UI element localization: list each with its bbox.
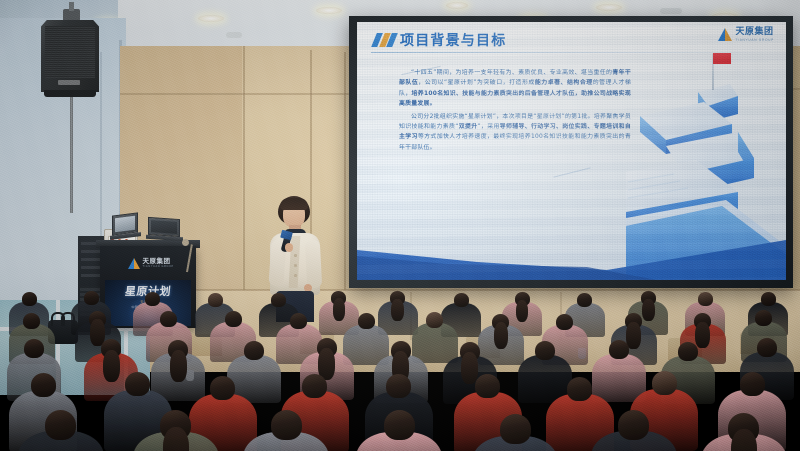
dado-trim-line bbox=[120, 289, 800, 291]
audience-member-head bbox=[302, 374, 327, 398]
slide-text-run: ，公司以“星原计划”为突破口，打造形成 bbox=[418, 80, 535, 86]
audience-member-head bbox=[500, 414, 531, 444]
audience-member-head bbox=[757, 338, 777, 357]
presenter-hair-fringe bbox=[280, 198, 308, 210]
audience-member-head bbox=[31, 373, 56, 397]
audience-member-head bbox=[384, 410, 415, 440]
audience-member-head bbox=[556, 314, 573, 330]
rack-slot bbox=[81, 274, 101, 277]
slide-text-run: “十四五”期间，为培养一支年轻有为、素质优良、专业高效、堪当重任的 bbox=[411, 70, 612, 76]
summit-flag bbox=[713, 53, 731, 64]
rack-slot bbox=[81, 250, 101, 253]
audience-member-head bbox=[225, 311, 242, 327]
wall-seam bbox=[120, 93, 350, 95]
slide-body-text: “十四五”期间，为培养一支年轻有为、素质优良、专业高效、堪当重任的青年干部队伍，… bbox=[399, 68, 631, 155]
audience-member-head bbox=[208, 293, 223, 307]
brand-name-cn: 天原集团 bbox=[143, 258, 174, 265]
slide-text-emphasis: 双提升 bbox=[459, 124, 478, 130]
conference-hall-photo: 项目背景与目标 天原集团 TIANYUAN GROUP “十四五”期间，为培养一… bbox=[0, 0, 800, 451]
audience-member-head bbox=[426, 312, 443, 328]
ceiling-vent bbox=[660, 8, 682, 14]
audience-member-head bbox=[271, 410, 302, 440]
audience-member-head bbox=[45, 410, 76, 440]
brand-name-cn: 天原集团 bbox=[736, 28, 775, 37]
brand-name-en: TIANYUAN GROUP bbox=[143, 266, 174, 268]
ceiling-downlight bbox=[198, 15, 224, 22]
audience-member-head bbox=[475, 374, 500, 398]
presenter-right-arm bbox=[305, 240, 322, 289]
audience-member-head bbox=[698, 292, 713, 306]
speaker-base bbox=[44, 90, 96, 97]
audience-member-head bbox=[160, 311, 177, 327]
audience-member-head bbox=[358, 313, 375, 329]
audience-member-head bbox=[678, 342, 698, 361]
slide-brand-logo: 天原集团 TIANYUAN GROUP bbox=[718, 28, 775, 42]
audience-member-head bbox=[210, 376, 235, 400]
gooseneck-microphone-head bbox=[182, 239, 189, 246]
audience-member-head bbox=[23, 313, 40, 329]
audience-member-head bbox=[290, 313, 307, 329]
audience-member-head bbox=[145, 292, 160, 306]
speaker-grille bbox=[45, 26, 95, 78]
presentation-screen[interactable]: 项目背景与目标 天原集团 TIANYUAN GROUP “十四五”期间，为培养一… bbox=[357, 22, 786, 280]
speaker-brand-badge bbox=[58, 80, 80, 85]
slide-paragraph: “十四五”期间，为培养一支年轻有为、素质优良、专业高效、堪当重任的青年干部队伍，… bbox=[399, 68, 631, 110]
slide-title: 项目背景与目标 bbox=[400, 30, 506, 50]
audience-member-head bbox=[609, 340, 629, 359]
ceiling-downlight bbox=[596, 4, 622, 11]
audience-member-head bbox=[618, 410, 649, 440]
slide-text-emphasis: 培养100名知识、技能与能力素质突出的后备管理人才队伍，助推公司战略实现高质量发… bbox=[399, 91, 631, 107]
audience-member-hair bbox=[695, 322, 709, 348]
audience-member-head bbox=[454, 293, 469, 307]
audience-member-hair bbox=[170, 350, 187, 382]
brand-name-en: TIANYUAN GROUP bbox=[736, 39, 775, 42]
audience-member-head bbox=[244, 341, 264, 360]
audience-member-head bbox=[740, 372, 765, 396]
audience-member-head bbox=[761, 292, 776, 306]
ceiling-downlight bbox=[446, 2, 468, 9]
brand-mountain-icon bbox=[718, 28, 733, 41]
rack-slot bbox=[81, 258, 101, 261]
audience-member-hair bbox=[103, 350, 120, 382]
audience-member-head bbox=[22, 292, 37, 306]
slide-text-run: 等方式加快人才培养速度，最终实现培养100名知识技能和能力素质突出的青年干部队伍… bbox=[399, 134, 631, 150]
laptop-right[interactable] bbox=[148, 218, 182, 244]
rack-slot bbox=[81, 266, 101, 269]
audience-member-hair bbox=[461, 352, 478, 384]
slide-text-emphasis: 能力卓著、结构合理 bbox=[535, 80, 593, 86]
audience-member-head bbox=[567, 377, 592, 401]
audience-member-head bbox=[386, 374, 411, 398]
slide-paragraph: 公司分2批组织实施“星原计划”，本次项目是“星原计划”的第1批。培养聚焦学员知识… bbox=[399, 112, 631, 154]
audience-member-head bbox=[577, 293, 592, 307]
audience-member-head bbox=[125, 372, 150, 396]
audience-member-hair bbox=[391, 299, 404, 321]
audience-member-head bbox=[535, 341, 555, 360]
console-brand-logo: 天原集团 TIANYUAN GROUP bbox=[128, 258, 174, 269]
slide-title-underline bbox=[371, 52, 772, 53]
audience-member-hair bbox=[626, 322, 640, 348]
audience-member-head bbox=[652, 371, 677, 395]
audience-member-hair bbox=[494, 322, 508, 348]
audience-member-head bbox=[24, 339, 44, 358]
slide-text-run: ”，采用 bbox=[478, 124, 500, 130]
brand-mountain-icon bbox=[128, 258, 140, 269]
slide-bottom-wedge bbox=[357, 240, 786, 280]
presenter-hand-holding-mic bbox=[285, 243, 293, 252]
ceiling-downlight bbox=[316, 7, 342, 14]
audience-member-hair bbox=[642, 299, 655, 321]
audience-member-hair bbox=[731, 429, 757, 451]
audience-member-head bbox=[755, 310, 772, 326]
audience-member-hair bbox=[516, 300, 529, 322]
ceiling-vent bbox=[226, 32, 242, 38]
audience-member-head bbox=[271, 293, 286, 307]
slide-title-accent-bars bbox=[374, 33, 394, 47]
seated-audience bbox=[0, 296, 800, 451]
laptop-left[interactable] bbox=[112, 214, 140, 242]
wall-seam bbox=[344, 52, 346, 296]
wall-seam bbox=[243, 46, 245, 296]
audience-member-head bbox=[84, 291, 99, 305]
audience-member-hair bbox=[333, 298, 346, 320]
